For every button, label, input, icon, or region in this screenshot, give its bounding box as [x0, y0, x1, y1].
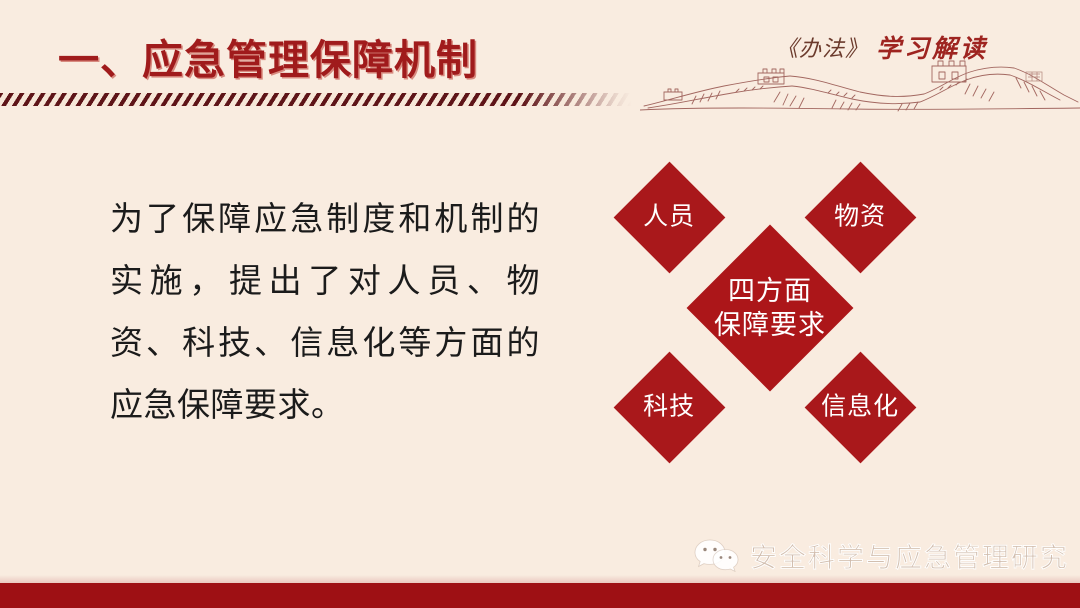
- hatched-divider-fade: [520, 93, 632, 106]
- diagram-node-label: 物资: [834, 202, 886, 233]
- diagram-node-technology[interactable]: 科技: [614, 352, 726, 464]
- slide-canvas: 一、应急管理保障机制 《办法》 学习解读: [0, 0, 1080, 608]
- page-title: 一、应急管理保障机制: [58, 26, 478, 86]
- great-wall-illustration-icon: [640, 48, 1080, 112]
- diagram-node-label: 信息化: [821, 392, 899, 423]
- slide-header: 一、应急管理保障机制 《办法》 学习解读: [0, 0, 1080, 112]
- diagram-node-informatization[interactable]: 信息化: [805, 352, 917, 464]
- diagram-center-label: 四方面 保障要求: [714, 274, 826, 342]
- diagram-center-label-line1: 四方面: [728, 276, 812, 306]
- bottom-bar: [0, 583, 1080, 608]
- diagram-node-personnel[interactable]: 人员: [614, 162, 726, 274]
- diagram-center-label-line2: 保障要求: [714, 310, 826, 340]
- footer-watermark: 安全科学与应急管理研究: [694, 534, 1069, 576]
- bottom-bar-glow: [0, 575, 1080, 583]
- diagram-node-materials[interactable]: 物资: [805, 162, 917, 274]
- wechat-icon: [694, 538, 740, 572]
- diagram-node-label: 人员: [643, 202, 695, 233]
- diagram-node-label: 科技: [643, 392, 695, 423]
- footer-watermark-label: 安全科学与应急管理研究: [750, 536, 1069, 575]
- body-paragraph: 为了保障应急制度和机制的实施，提出了对人员、物资、科技、信息化等方面的应急保障要…: [110, 188, 540, 436]
- diamond-diagram: 人员 物资 四方面 保障要求 科技 信息化: [575, 135, 965, 480]
- diagram-node-center[interactable]: 四方面 保障要求: [687, 225, 854, 392]
